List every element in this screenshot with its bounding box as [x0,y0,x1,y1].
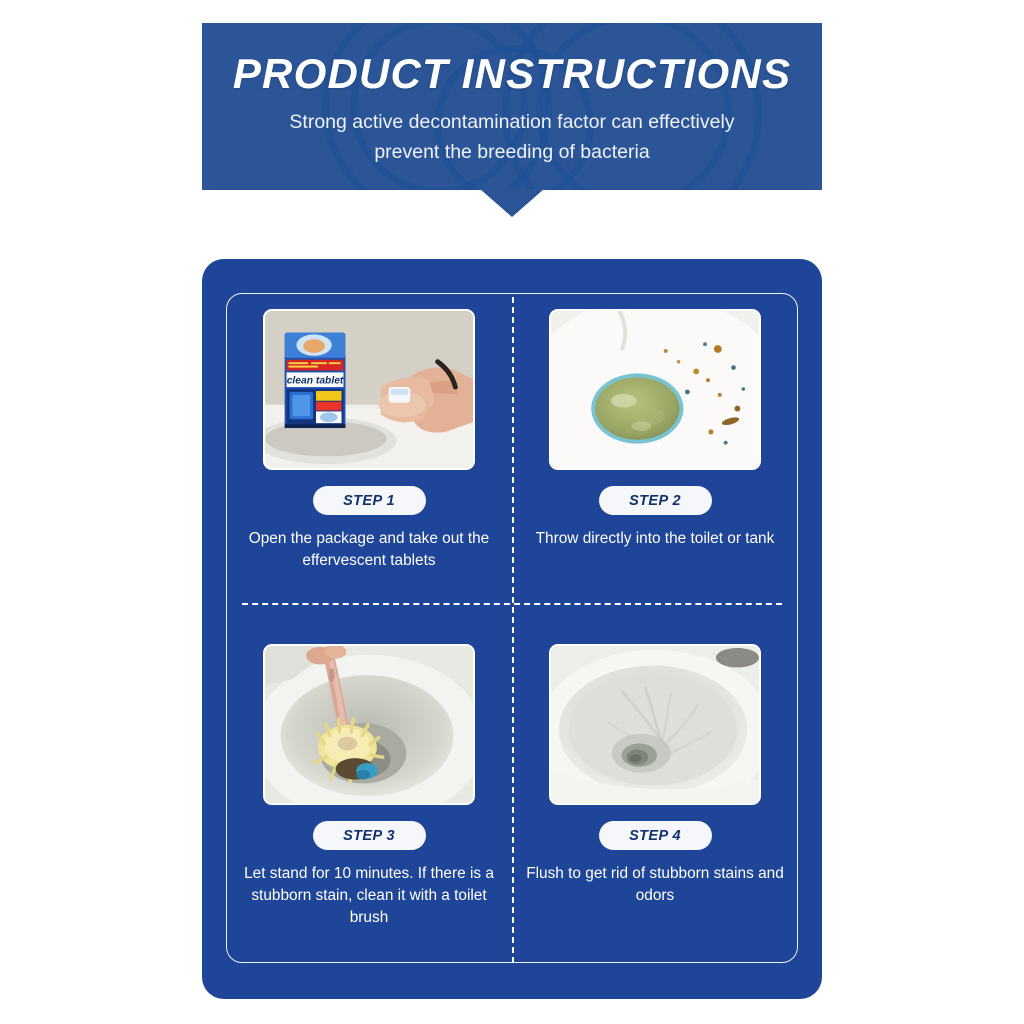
header-arrow-notch-icon [480,189,544,217]
header-content: PRODUCT INSTRUCTIONS Strong active decon… [202,23,822,166]
steps-card: clean tablet [202,259,822,999]
step-2-photo [549,309,761,470]
step-1-caption: Open the package and take out the efferv… [238,528,500,572]
step-3-caption: Let stand for 10 minutes. If there is a … [238,863,500,929]
header-banner: PRODUCT INSTRUCTIONS Strong active decon… [202,23,822,190]
step-3-photo [263,644,475,805]
step-1-badge: STEP 1 [313,486,426,515]
step-cell-2: STEP 2 Throw directly into the toilet or… [512,293,798,628]
header-subtitle-line-2: prevent the breeding of bacteria [202,139,822,167]
step-cell-1: clean tablet [226,293,512,628]
header-subtitle-line-1: Strong active decontamination factor can… [202,109,822,137]
step-4-caption: Flush to get rid of stubborn stains and … [524,863,786,907]
steps-grid: clean tablet [226,293,798,963]
step-3-badge: STEP 3 [313,821,426,850]
step-cell-4: STEP 4 Flush to get rid of stubborn stai… [512,628,798,963]
infographic-page: PRODUCT INSTRUCTIONS Strong active decon… [0,0,1024,1024]
step-cell-3: STEP 3 Let stand for 10 minutes. If ther… [226,628,512,963]
page-title: PRODUCT INSTRUCTIONS [202,53,822,95]
step-4-badge: STEP 4 [599,821,712,850]
svg-text:clean tablet: clean tablet [287,376,344,387]
step-2-badge: STEP 2 [599,486,712,515]
step-2-caption: Throw directly into the toilet or tank [524,528,786,550]
step-4-photo [549,644,761,805]
step-1-photo: clean tablet [263,309,475,470]
